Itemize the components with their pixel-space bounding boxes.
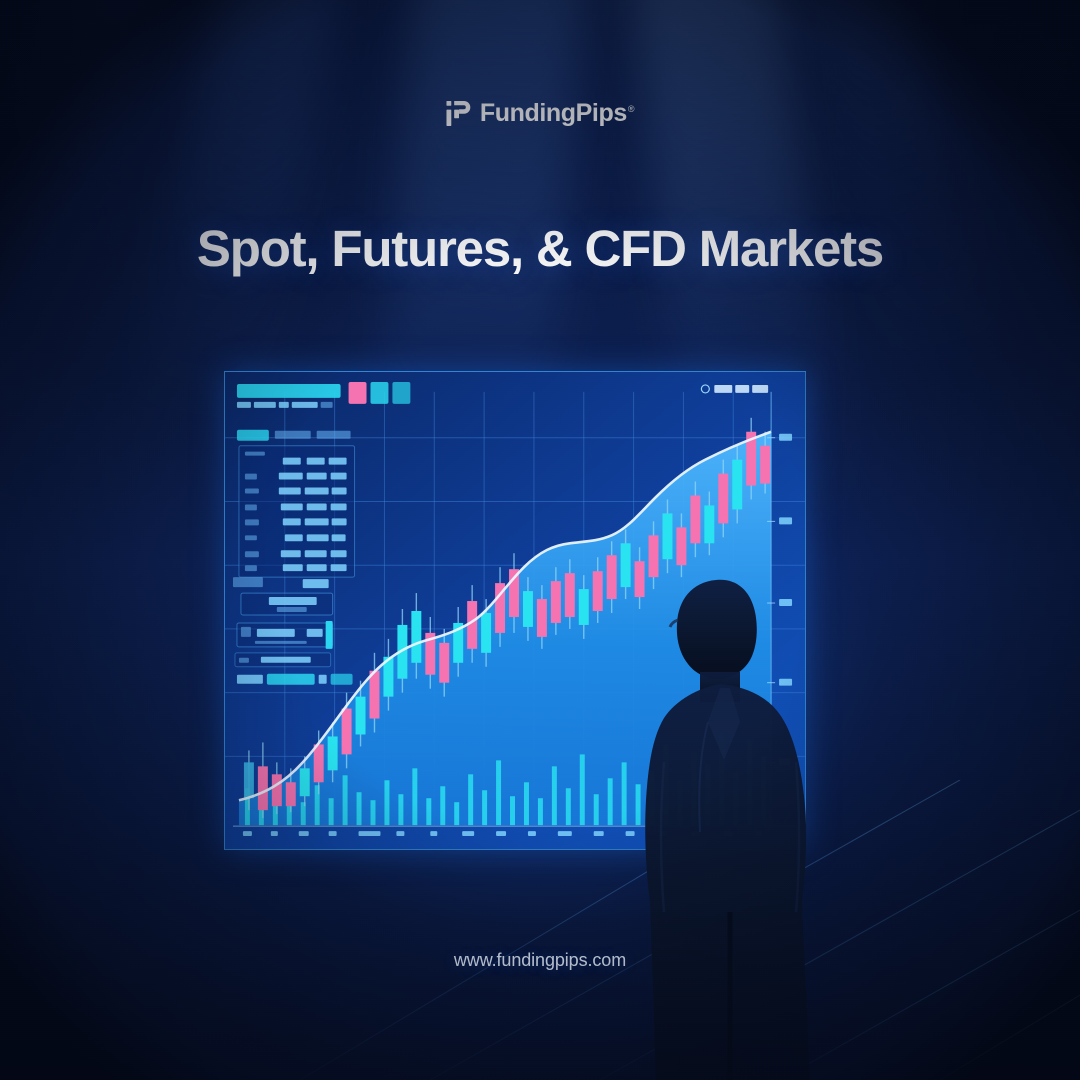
brand-logo-label: FundingPips (480, 99, 627, 127)
info-card-meter[interactable] (237, 621, 333, 649)
light-beam-icon (762, 0, 1004, 377)
status-bar-bottom[interactable] (237, 674, 353, 685)
fundingpips-p-mark-icon (446, 100, 471, 127)
trading-screen (224, 371, 806, 850)
chip-info[interactable] (392, 382, 410, 404)
info-card-slider[interactable] (235, 653, 331, 667)
order-table[interactable] (239, 446, 355, 577)
brand-logo-text: FundingPips® (480, 101, 634, 126)
header-title-bar (237, 384, 341, 398)
trading-screen-surface[interactable] (224, 371, 806, 850)
scene-background: FundingPips® Spot, Futures, & CFD Market… (0, 0, 1080, 1080)
page-title: Spot, Futures, & CFD Markets (0, 219, 1080, 278)
registered-trademark-icon: ® (628, 104, 634, 114)
brand-logo: FundingPips® (0, 100, 1080, 127)
trading-chart[interactable] (225, 372, 805, 849)
chip-buy[interactable] (370, 382, 388, 404)
tab-active[interactable] (237, 430, 269, 441)
footer-website-url[interactable]: www.fundingpips.com (0, 950, 1080, 971)
tab-second[interactable] (275, 431, 311, 439)
tab-third[interactable] (317, 431, 351, 439)
chip-sell[interactable] (349, 382, 367, 404)
meter-level-bar (326, 621, 333, 649)
